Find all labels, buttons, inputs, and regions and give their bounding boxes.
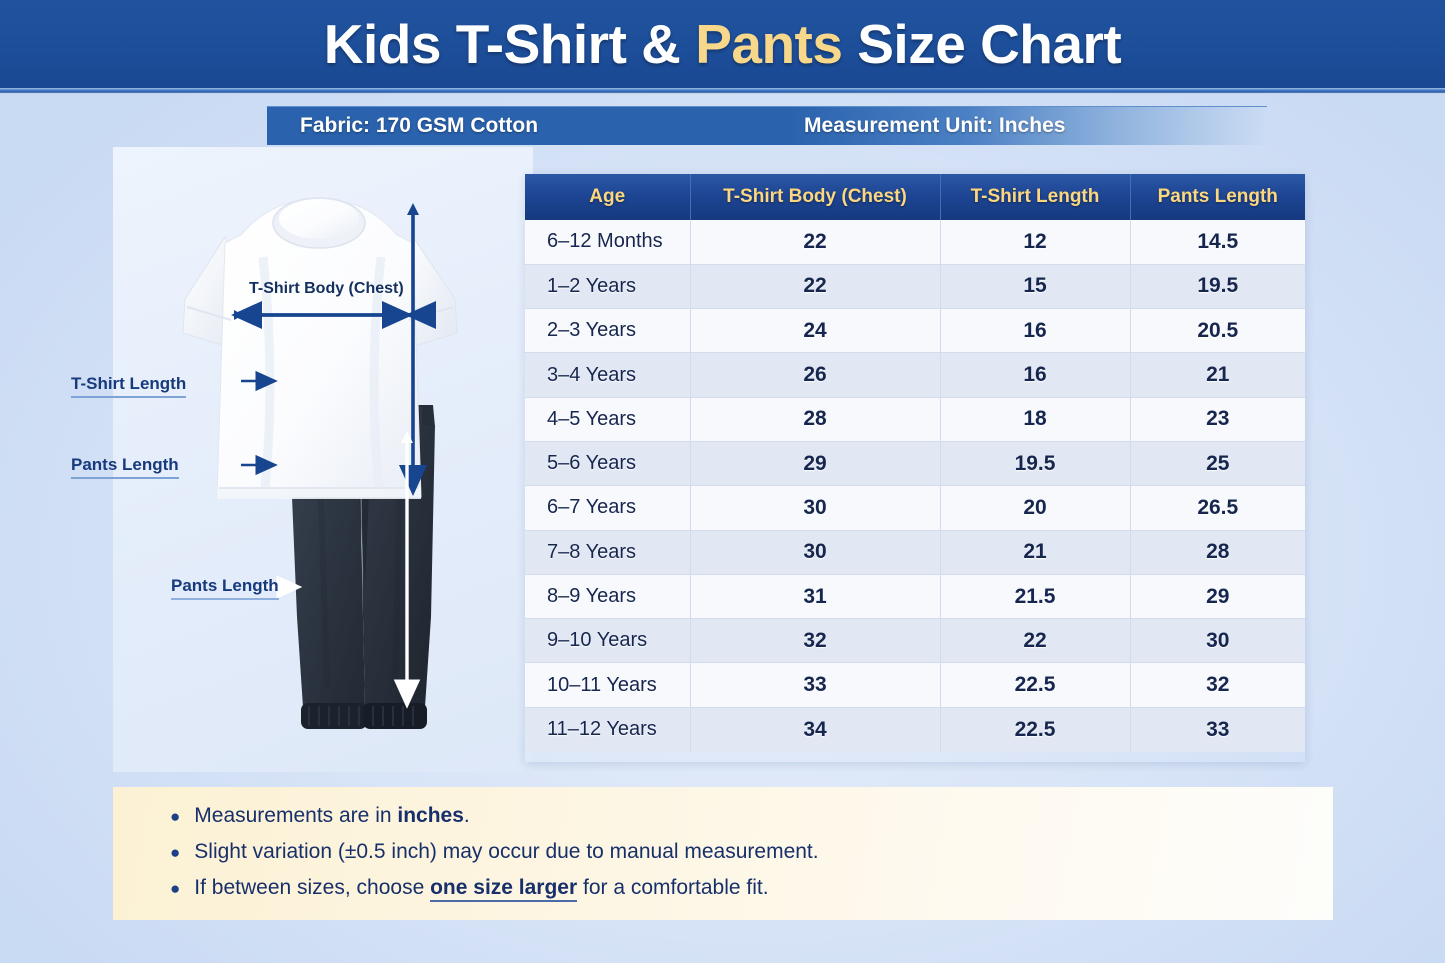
cell-pants-length: 33 — [1130, 707, 1305, 751]
tshirt-length-label: T-Shirt Length — [71, 374, 186, 398]
cell-tshirt-length: 16 — [940, 353, 1130, 397]
table-row: 3–4 Years 26 16 21 — [525, 353, 1305, 397]
pants-length-label-upper: Pants Length — [71, 455, 179, 479]
cell-chest: 29 — [690, 441, 940, 485]
note-emphasis-underlined: one size larger — [430, 876, 577, 902]
chest-measurement-label: T-Shirt Body (Chest) — [249, 280, 404, 298]
list-item: ● Measurements are in inches. — [170, 804, 1333, 828]
note-text: Slight variation (±0.5 inch) may occur d… — [194, 840, 818, 864]
cell-chest: 32 — [690, 619, 940, 663]
note-post: for a comfortable fit. — [577, 876, 768, 899]
cell-pants-length: 32 — [1130, 663, 1305, 707]
note-text: If between sizes, choose one size larger… — [194, 876, 768, 900]
table-row: 6–12 Months 22 12 14.5 — [525, 220, 1305, 264]
note-post: . — [464, 804, 470, 827]
cell-chest: 22 — [690, 220, 940, 264]
title-accent-pants: Pants — [695, 13, 842, 75]
cell-tshirt-length: 16 — [940, 309, 1130, 353]
tshirt-graphic — [183, 198, 457, 499]
cell-chest: 26 — [690, 353, 940, 397]
column-header-tshirt-length: T-Shirt Length — [940, 174, 1130, 220]
note-emphasis: inches — [397, 804, 464, 827]
page-title: Kids T-Shirt & Pants Size Chart — [324, 12, 1121, 76]
cell-tshirt-length: 20 — [940, 486, 1130, 530]
table-row: 10–11 Years 33 22.5 32 — [525, 663, 1305, 707]
cell-tshirt-length: 22 — [940, 619, 1130, 663]
cell-pants-length: 14.5 — [1130, 220, 1305, 264]
note-text: Measurements are in inches. — [194, 804, 469, 828]
column-header-tshirt-body-chest: T-Shirt Body (Chest) — [690, 174, 940, 220]
cell-age: 9–10 Years — [525, 619, 690, 663]
cell-age: 1–2 Years — [525, 264, 690, 308]
cell-tshirt-length: 12 — [940, 220, 1130, 264]
table-row: 6–7 Years 30 20 26.5 — [525, 486, 1305, 530]
cell-chest: 33 — [690, 663, 940, 707]
cell-pants-length: 26.5 — [1130, 486, 1305, 530]
table-row: 4–5 Years 28 18 23 — [525, 397, 1305, 441]
bullet-icon: ● — [170, 844, 180, 861]
cell-pants-length: 28 — [1130, 530, 1305, 574]
cell-pants-length: 21 — [1130, 353, 1305, 397]
cell-age: 6–7 Years — [525, 486, 690, 530]
list-item: ● If between sizes, choose one size larg… — [170, 876, 1333, 900]
note-pre: Measurements are in — [194, 804, 397, 827]
cell-tshirt-length: 18 — [940, 397, 1130, 441]
cell-pants-length: 23 — [1130, 397, 1305, 441]
bullet-icon: ● — [170, 808, 180, 825]
cell-tshirt-length: 21 — [940, 530, 1130, 574]
table-row: 1–2 Years 22 15 19.5 — [525, 264, 1305, 308]
cell-pants-length: 29 — [1130, 574, 1305, 618]
cell-age: 10–11 Years — [525, 663, 690, 707]
cell-age: 11–12 Years — [525, 707, 690, 751]
cell-tshirt-length: 22.5 — [940, 663, 1130, 707]
table-body: 6–12 Months 22 12 14.5 1–2 Years 22 15 1… — [525, 220, 1305, 752]
note-pre: If between sizes, choose — [194, 876, 430, 899]
measurement-unit-label: Measurement Unit: Inches — [804, 114, 1065, 138]
cell-chest: 30 — [690, 486, 940, 530]
table-header-row: Age T-Shirt Body (Chest) T-Shirt Length … — [525, 174, 1305, 220]
table-row: 2–3 Years 24 16 20.5 — [525, 309, 1305, 353]
cell-chest: 34 — [690, 707, 940, 751]
bullet-icon: ● — [170, 880, 180, 897]
table-row: 5–6 Years 29 19.5 25 — [525, 441, 1305, 485]
cell-tshirt-length: 15 — [940, 264, 1130, 308]
cell-chest: 30 — [690, 530, 940, 574]
cell-pants-length: 19.5 — [1130, 264, 1305, 308]
page-header: Kids T-Shirt & Pants Size Chart — [0, 0, 1445, 88]
cell-age: 5–6 Years — [525, 441, 690, 485]
size-chart-table: Age T-Shirt Body (Chest) T-Shirt Length … — [525, 174, 1305, 752]
table-row: 11–12 Years 34 22.5 33 — [525, 707, 1305, 751]
title-part-2: Size Chart — [842, 13, 1121, 75]
cell-tshirt-length: 19.5 — [940, 441, 1130, 485]
cell-age: 4–5 Years — [525, 397, 690, 441]
cell-chest: 31 — [690, 574, 940, 618]
cell-age: 7–8 Years — [525, 530, 690, 574]
cell-age: 3–4 Years — [525, 353, 690, 397]
cell-age: 6–12 Months — [525, 220, 690, 264]
cell-chest: 24 — [690, 309, 940, 353]
title-part-1: Kids T-Shirt & — [324, 13, 695, 75]
table-row: 7–8 Years 30 21 28 — [525, 530, 1305, 574]
cell-age: 2–3 Years — [525, 309, 690, 353]
page-background: Kids T-Shirt & Pants Size Chart Fabric: … — [0, 0, 1445, 963]
cell-pants-length: 25 — [1130, 441, 1305, 485]
cell-tshirt-length: 22.5 — [940, 707, 1130, 751]
cell-chest: 22 — [690, 264, 940, 308]
notes-panel: ● Measurements are in inches. ● Slight v… — [113, 787, 1333, 920]
size-chart-table-container: Age T-Shirt Body (Chest) T-Shirt Length … — [525, 174, 1305, 762]
cell-age: 8–9 Years — [525, 574, 690, 618]
info-bar: Fabric: 170 GSM Cotton Measurement Unit:… — [267, 106, 1267, 145]
fabric-label: Fabric: 170 GSM Cotton — [300, 114, 538, 138]
cell-chest: 28 — [690, 397, 940, 441]
cell-tshirt-length: 21.5 — [940, 574, 1130, 618]
cell-pants-length: 30 — [1130, 619, 1305, 663]
list-item: ● Slight variation (±0.5 inch) may occur… — [170, 840, 1333, 864]
table-row: 8–9 Years 31 21.5 29 — [525, 574, 1305, 618]
column-header-pants-length: Pants Length — [1130, 174, 1305, 220]
column-header-age: Age — [525, 174, 690, 220]
pants-length-label-lower: Pants Length — [171, 576, 279, 600]
cell-pants-length: 20.5 — [1130, 309, 1305, 353]
header-divider-rule — [0, 88, 1445, 94]
table-row: 9–10 Years 32 22 30 — [525, 619, 1305, 663]
note-pre: Slight variation (±0.5 inch) may occur d… — [194, 840, 818, 863]
